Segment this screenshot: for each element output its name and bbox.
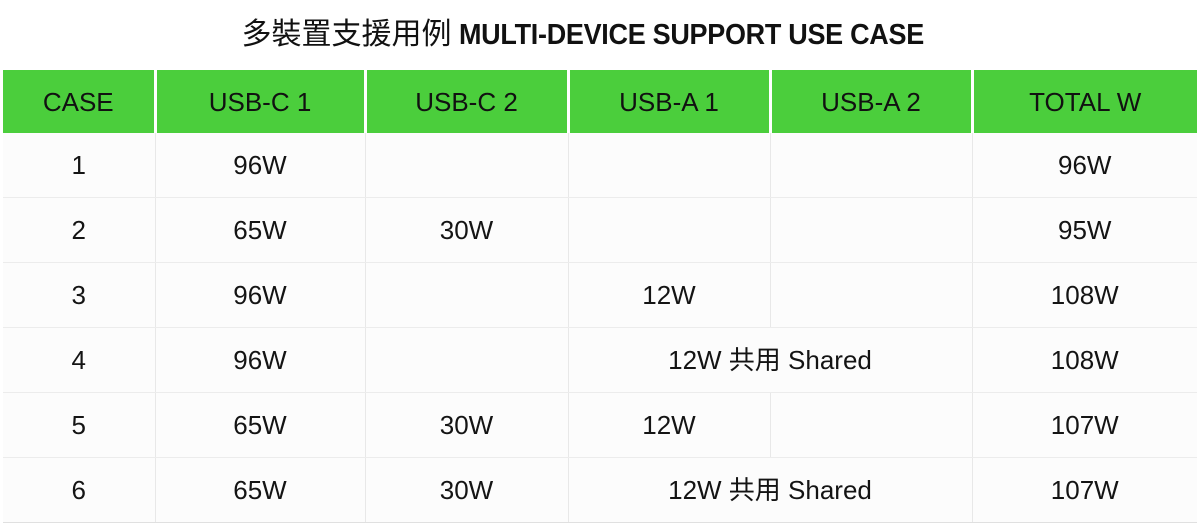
cell-usbc2	[365, 133, 568, 198]
cell-usbc1: 65W	[155, 393, 365, 458]
cell-usbc2	[365, 263, 568, 328]
column-header-total: TOTAL W	[972, 70, 1197, 133]
cell-total: 107W	[972, 393, 1197, 458]
table-row: 4 96W 12W 共用 Shared 108W	[3, 328, 1197, 393]
column-header-usba1: USB-A 1	[568, 70, 770, 133]
multi-device-support-table: CASE USB-C 1 USB-C 2 USB-A 1 USB-A 2 TOT…	[3, 70, 1197, 523]
page-title: 多裝置支援用例MULTI-DEVICE SUPPORT USE CASE	[242, 20, 959, 50]
table-row: 1 96W 96W	[3, 133, 1197, 198]
page-title-chinese: 多裝置支援用例	[242, 17, 452, 52]
cell-total: 108W	[972, 263, 1197, 328]
cell-total: 108W	[972, 328, 1197, 393]
cell-usba2	[770, 133, 972, 198]
cell-usba2	[770, 198, 972, 263]
cell-usbc1: 96W	[155, 328, 365, 393]
table-body: 1 96W 96W 2 65W 30W 95W 3 96W 12W	[3, 133, 1197, 523]
column-header-usbc1: USB-C 1	[155, 70, 365, 133]
cell-case: 2	[3, 198, 155, 263]
table-header-row: CASE USB-C 1 USB-C 2 USB-A 1 USB-A 2 TOT…	[3, 70, 1197, 133]
cell-case: 1	[3, 133, 155, 198]
cell-usba1	[568, 198, 770, 263]
page-title-english: MULTI-DEVICE SUPPORT USE CASE	[459, 21, 924, 50]
cell-case: 6	[3, 458, 155, 523]
column-header-case: CASE	[3, 70, 155, 133]
table-header: CASE USB-C 1 USB-C 2 USB-A 1 USB-A 2 TOT…	[3, 70, 1197, 133]
cell-case: 4	[3, 328, 155, 393]
cell-usbc2: 30W	[365, 458, 568, 523]
cell-usbc2	[365, 328, 568, 393]
spreadsheet-sheet: 多裝置支援用例MULTI-DEVICE SUPPORT USE CASE CAS…	[0, 0, 1200, 523]
cell-usbc1: 96W	[155, 263, 365, 328]
cell-usba1: 12W	[568, 393, 770, 458]
cell-usbc1: 96W	[155, 133, 365, 198]
cell-case: 5	[3, 393, 155, 458]
table-row: 6 65W 30W 12W 共用 Shared 107W	[3, 458, 1197, 523]
cell-usbc1: 65W	[155, 458, 365, 523]
column-header-usbc2: USB-C 2	[365, 70, 568, 133]
cell-usba-shared: 12W 共用 Shared	[568, 458, 972, 523]
table-row: 3 96W 12W 108W	[3, 263, 1197, 328]
cell-usba2	[770, 263, 972, 328]
cell-case: 3	[3, 263, 155, 328]
cell-total: 96W	[972, 133, 1197, 198]
cell-usba2	[770, 393, 972, 458]
cell-total: 107W	[972, 458, 1197, 523]
cell-usba1	[568, 133, 770, 198]
table-title-row: 多裝置支援用例MULTI-DEVICE SUPPORT USE CASE	[0, 0, 1200, 70]
cell-usba1: 12W	[568, 263, 770, 328]
cell-total: 95W	[972, 198, 1197, 263]
cell-usbc2: 30W	[365, 393, 568, 458]
cell-usbc2: 30W	[365, 198, 568, 263]
cell-usbc1: 65W	[155, 198, 365, 263]
table-row: 5 65W 30W 12W 107W	[3, 393, 1197, 458]
cell-usba-shared: 12W 共用 Shared	[568, 328, 972, 393]
table-row: 2 65W 30W 95W	[3, 198, 1197, 263]
column-header-usba2: USB-A 2	[770, 70, 972, 133]
